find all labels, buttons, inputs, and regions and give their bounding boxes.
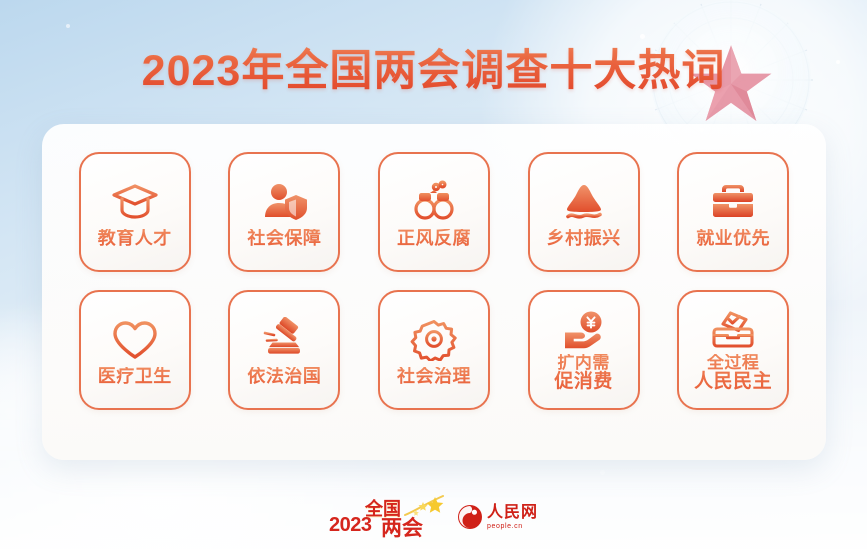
people-cn-text: 人民网 people.cn (487, 505, 538, 530)
snow-fleck (66, 24, 70, 28)
lianghui-logo: 全国 2023 两会 (329, 495, 433, 539)
keyword-label: 扩内需 促消费 (554, 354, 613, 393)
keyword-card-domestic-demand[interactable]: 扩内需 促消费 (528, 290, 640, 410)
gear-target-icon (409, 313, 459, 365)
keyword-card-healthcare[interactable]: 医疗卫生 (79, 290, 191, 410)
keywords-grid: 教育人才 社会保障 (42, 152, 826, 410)
lianghui-logo-year: 2023 (329, 514, 372, 537)
keyword-label: 乡村振兴 (547, 229, 621, 248)
keywords-panel: 教育人才 社会保障 (42, 124, 826, 460)
keyword-card-whole-process-democracy[interactable]: 全过程 人民民主 (677, 290, 789, 410)
page-title: 2023年全国两会调查十大热词 (0, 36, 867, 98)
keyword-label-line1: 扩内需 (557, 353, 610, 372)
keyword-label: 教育人才 (98, 229, 172, 248)
keyword-card-anti-corruption[interactable]: 正风反腐 (378, 152, 490, 272)
keyword-label: 全过程 人民民主 (694, 354, 772, 393)
keyword-card-social-security[interactable]: 社会保障 (228, 152, 340, 272)
snow-fleck (600, 470, 605, 475)
gold-stars-icon (403, 493, 447, 523)
footer-branding: 全国 2023 两会 人民网 people.cn (0, 495, 867, 539)
keyword-label: 社会保障 (247, 229, 321, 248)
keyword-card-education[interactable]: 教育人才 (79, 152, 191, 272)
person-shield-icon (259, 175, 309, 227)
keyword-label: 就业优先 (696, 229, 770, 248)
publisher-name-en: people.cn (487, 523, 538, 530)
mountain-water-icon (559, 175, 609, 227)
keyword-label: 社会治理 (397, 367, 471, 386)
people-cn-logo: 人民网 people.cn (457, 504, 538, 530)
keyword-card-employment[interactable]: 就业优先 (677, 152, 789, 272)
people-cn-mark-icon (457, 504, 483, 530)
graduation-cap-icon (110, 175, 160, 227)
keyword-card-rule-of-law[interactable]: 依法治国 (228, 290, 340, 410)
keyword-label: 医疗卫生 (98, 367, 172, 386)
hand-coin-icon (559, 308, 609, 352)
publisher-name-cn: 人民网 (487, 505, 538, 521)
gavel-icon (259, 313, 309, 365)
keyword-label-line2: 人民民主 (694, 372, 772, 393)
keyword-label: 正风反腐 (397, 229, 471, 248)
ballot-box-icon (708, 308, 758, 352)
keyword-card-social-governance[interactable]: 社会治理 (378, 290, 490, 410)
keyword-label: 依法治国 (247, 367, 321, 386)
briefcase-icon (708, 175, 758, 227)
keyword-label-line2: 促消费 (554, 372, 613, 393)
keyword-label-line1: 全过程 (707, 353, 760, 372)
handcuffs-icon (409, 175, 459, 227)
keyword-card-rural-revitalization[interactable]: 乡村振兴 (528, 152, 640, 272)
infographic-canvas: 2023年全国两会调查十大热词 教育人才 (0, 0, 867, 549)
heart-plus-icon (110, 313, 160, 365)
